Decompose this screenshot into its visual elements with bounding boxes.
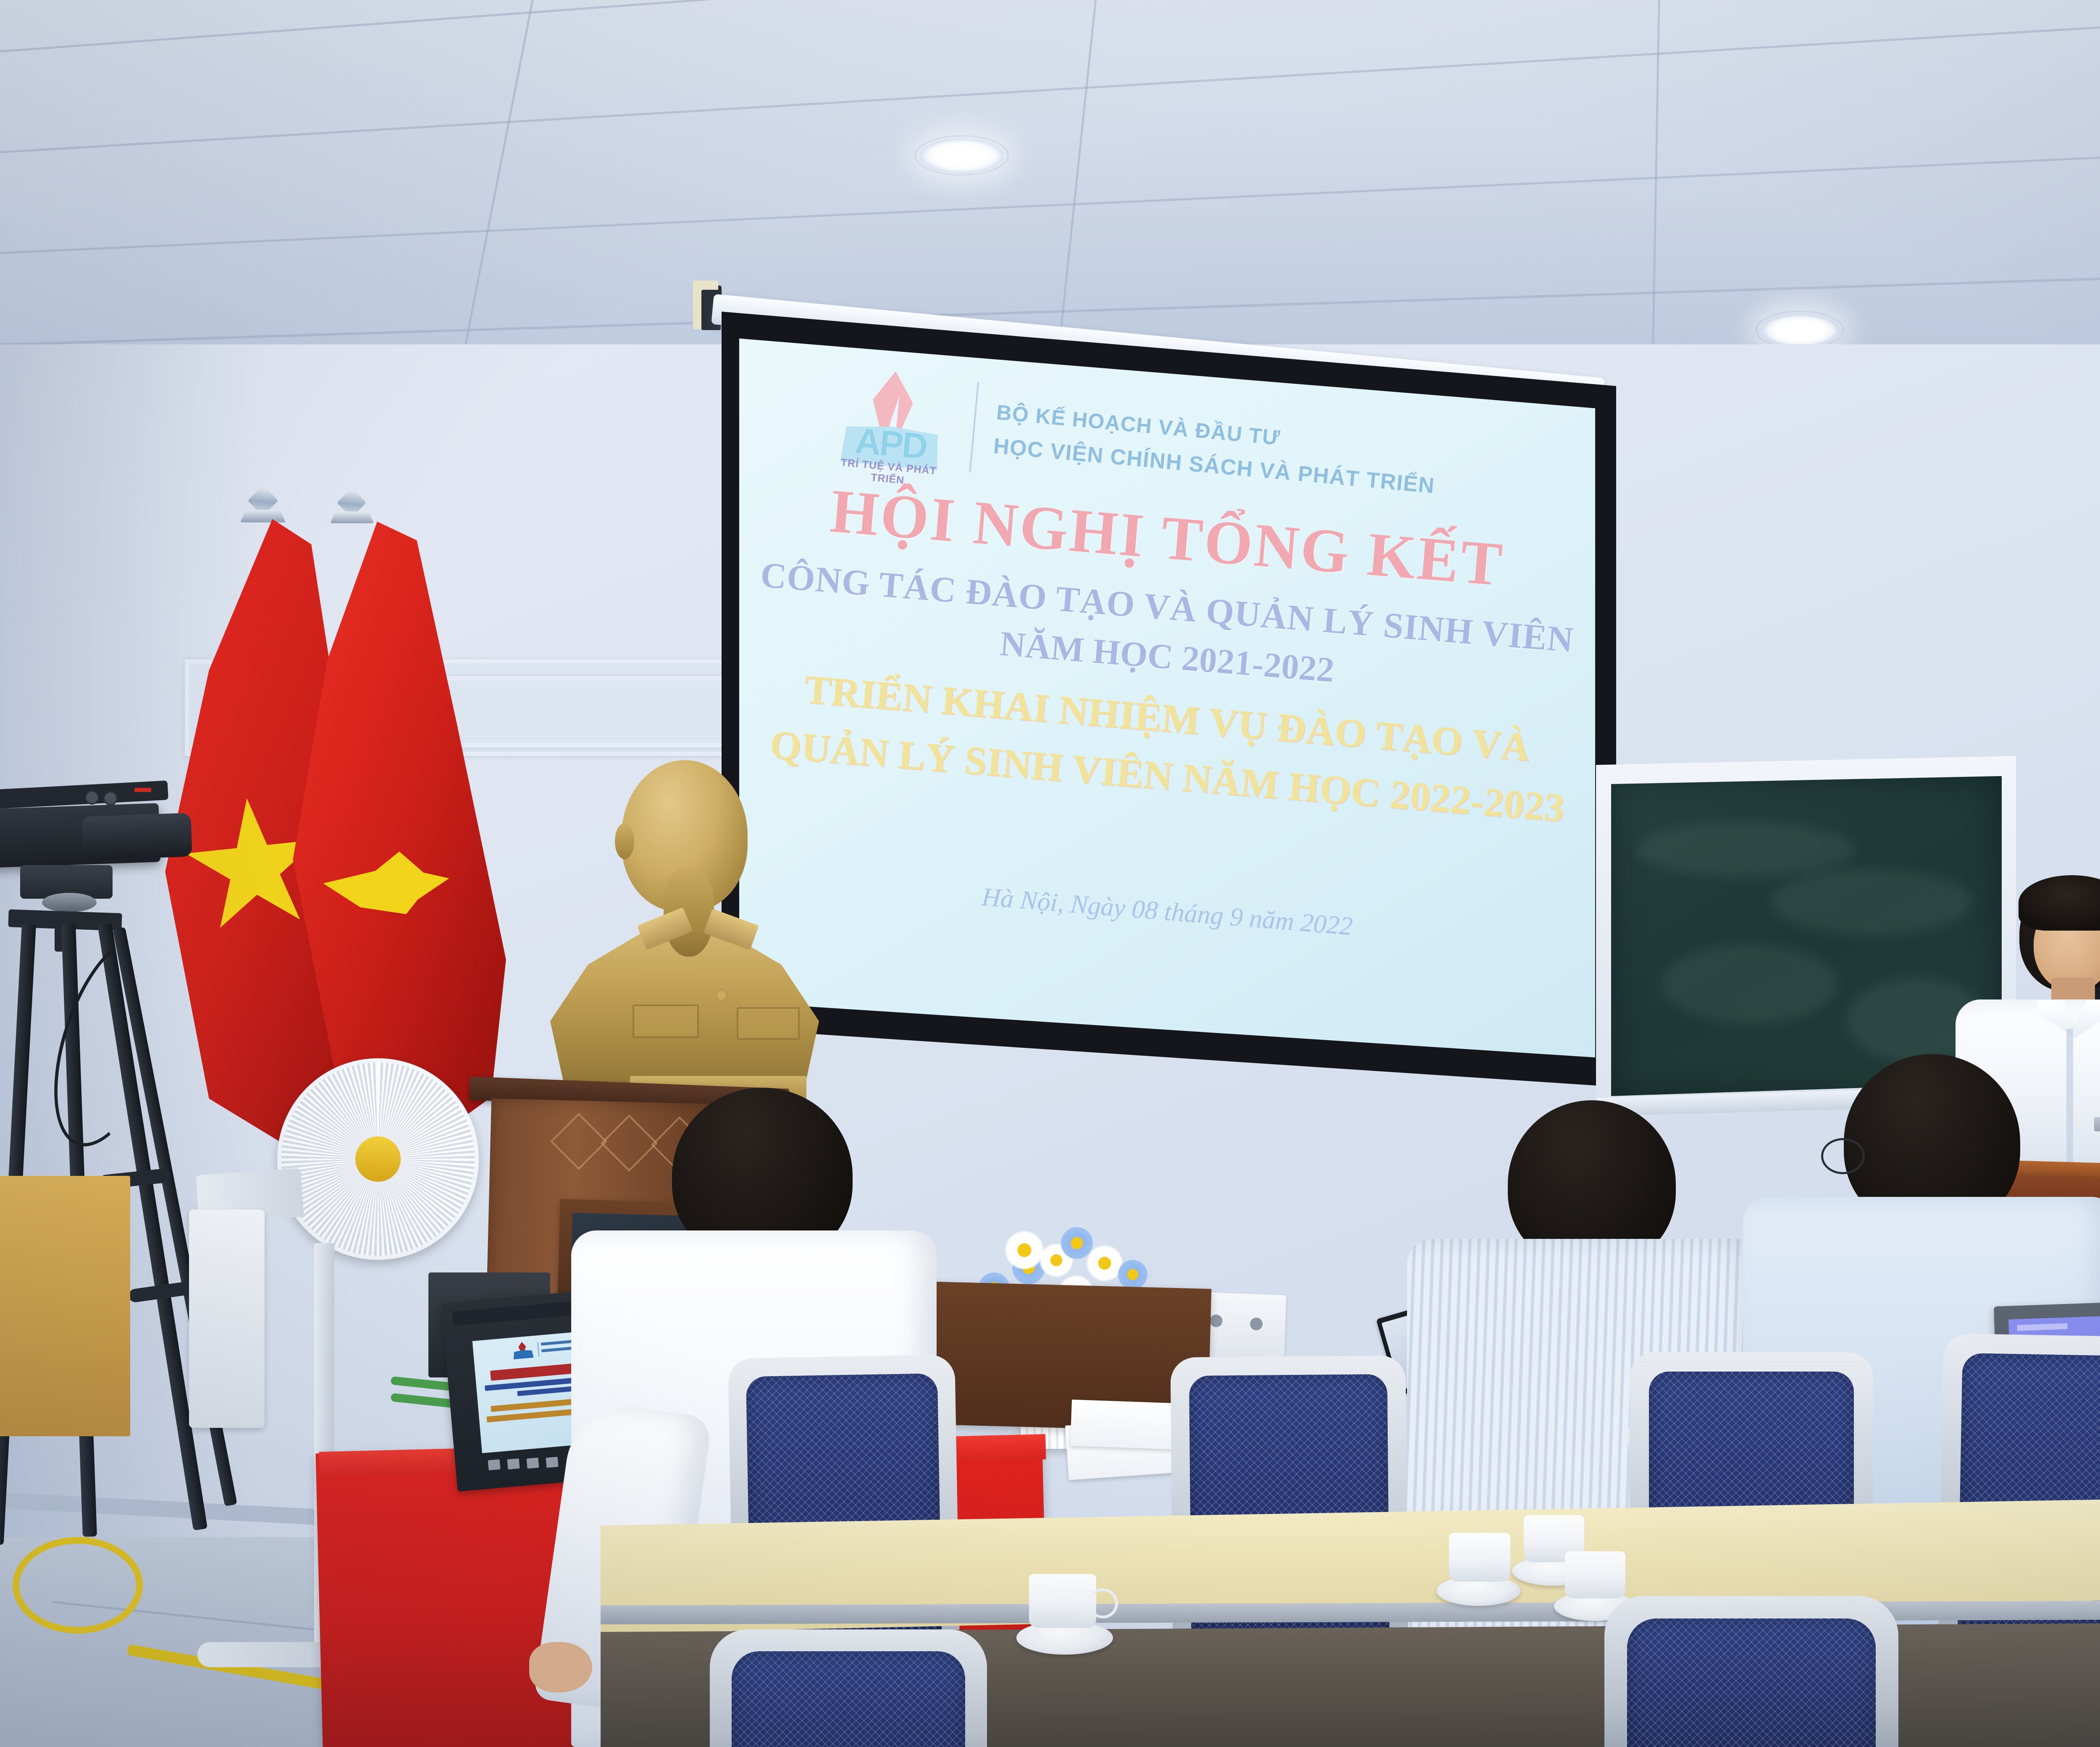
slide-org-text: BỘ KẾ HOẠCH VÀ ĐẦU TƯ HỌC VIỆN CHÍNH SÁC… <box>992 400 1439 498</box>
teacup-front-2[interactable] <box>1449 1533 1510 1582</box>
cardboard-box <box>0 1176 130 1436</box>
slide-content: APD TRÍ TUỆ VÀ PHÁT TRIỂN BỘ KẾ HOẠCH VÀ… <box>739 338 1595 1057</box>
stand-fan-control-box[interactable] <box>189 1209 265 1428</box>
teacup-front-1[interactable] <box>1029 1574 1096 1628</box>
camera-dial-1 <box>85 790 99 805</box>
bust-ear <box>615 823 634 859</box>
bust-button <box>716 989 727 1001</box>
tripod-bowl <box>42 893 97 912</box>
apd-logo: APD TRÍ TUỆ VÀ PHÁT TRIỂN <box>831 366 953 473</box>
teacup-front-4[interactable] <box>1565 1551 1625 1598</box>
ceiling-downlight-1 <box>920 139 1004 173</box>
attendee-white-shirt-hand <box>529 1642 592 1692</box>
ceiling-downlight-2 <box>1761 314 1840 347</box>
teacup-handle-front-1 <box>1088 1588 1118 1618</box>
projected-slide: APD TRÍ TUỆ VÀ PHÁT TRIỂN BỘ KẾ HOẠCH VÀ… <box>739 338 1595 1057</box>
ceiling <box>0 0 2100 370</box>
speaker-hair <box>2019 875 2100 931</box>
camera-dial-2 <box>103 791 118 805</box>
slide-date: Hà Nội, Ngày 08 tháng 9 năm 2022 <box>739 863 1595 961</box>
ho-chi-minh-bust <box>538 760 832 1104</box>
chair-front-2[interactable] <box>1604 1596 1898 1747</box>
camera-lens <box>81 813 192 860</box>
attendee-glasses-icon <box>1821 1138 1865 1174</box>
bust-pocket-left <box>633 1005 699 1038</box>
camera-tally-light <box>134 788 151 792</box>
chair-front-1[interactable] <box>710 1629 987 1747</box>
bust-pocket-right <box>737 1007 800 1040</box>
conference-room-photo: APD TRÍ TUỆ VÀ PHÁT TRIỂN BỘ KẾ HOẠCH VÀ… <box>0 0 2100 1747</box>
stand-fan-hub <box>355 1136 401 1182</box>
slide-header-divider <box>969 382 979 472</box>
yellow-cable-coil <box>13 1537 143 1634</box>
